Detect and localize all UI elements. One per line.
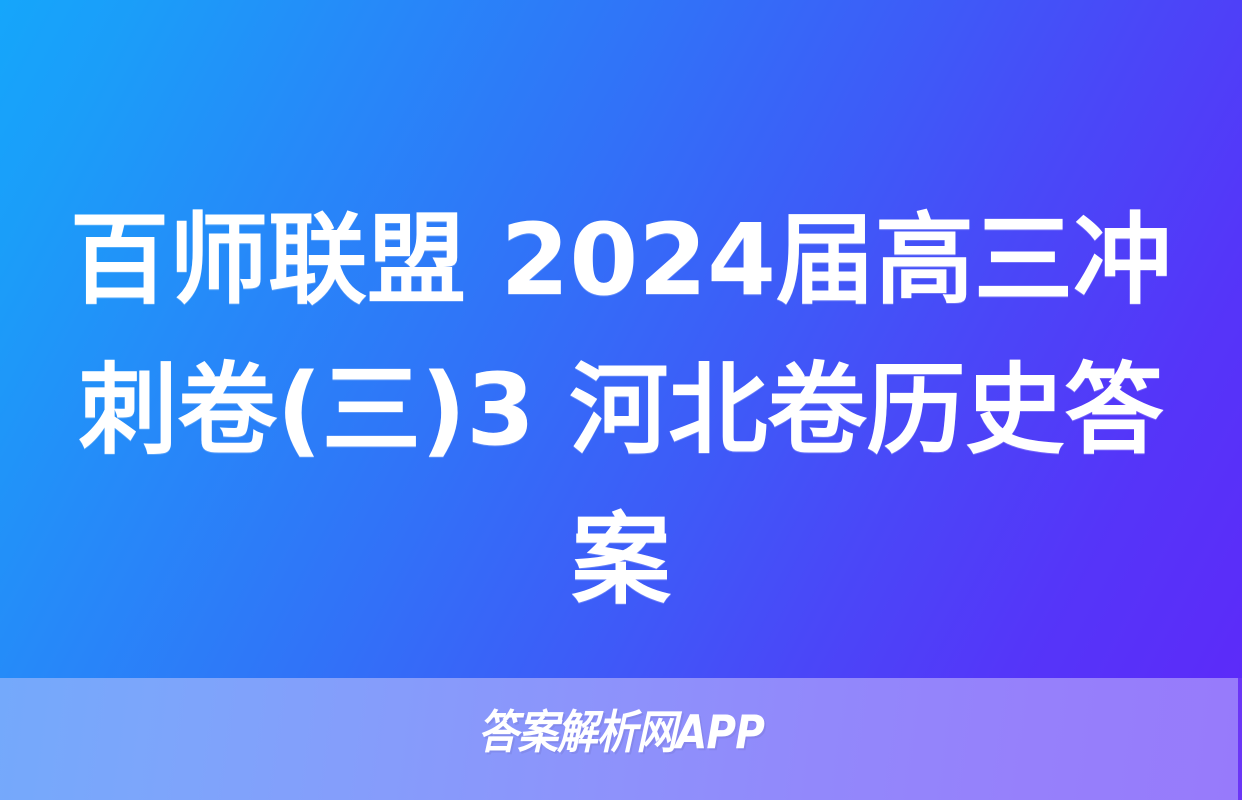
watermark-label: 答案解析网APP	[75, 704, 1168, 760]
watermark-band: 答案解析网APP	[0, 678, 1242, 800]
title-line-1: 百师联盟 2024届高三冲	[60, 186, 1182, 336]
poster-canvas: 百师联盟 2024届高三冲 刺卷(三)3 河北卷历史答 案 答案解析网APP	[0, 0, 1242, 800]
page-title: 百师联盟 2024届高三冲 刺卷(三)3 河北卷历史答 案	[60, 186, 1182, 636]
title-line-2: 刺卷(三)3 河北卷历史答	[60, 336, 1182, 486]
title-line-3: 案	[60, 486, 1182, 636]
